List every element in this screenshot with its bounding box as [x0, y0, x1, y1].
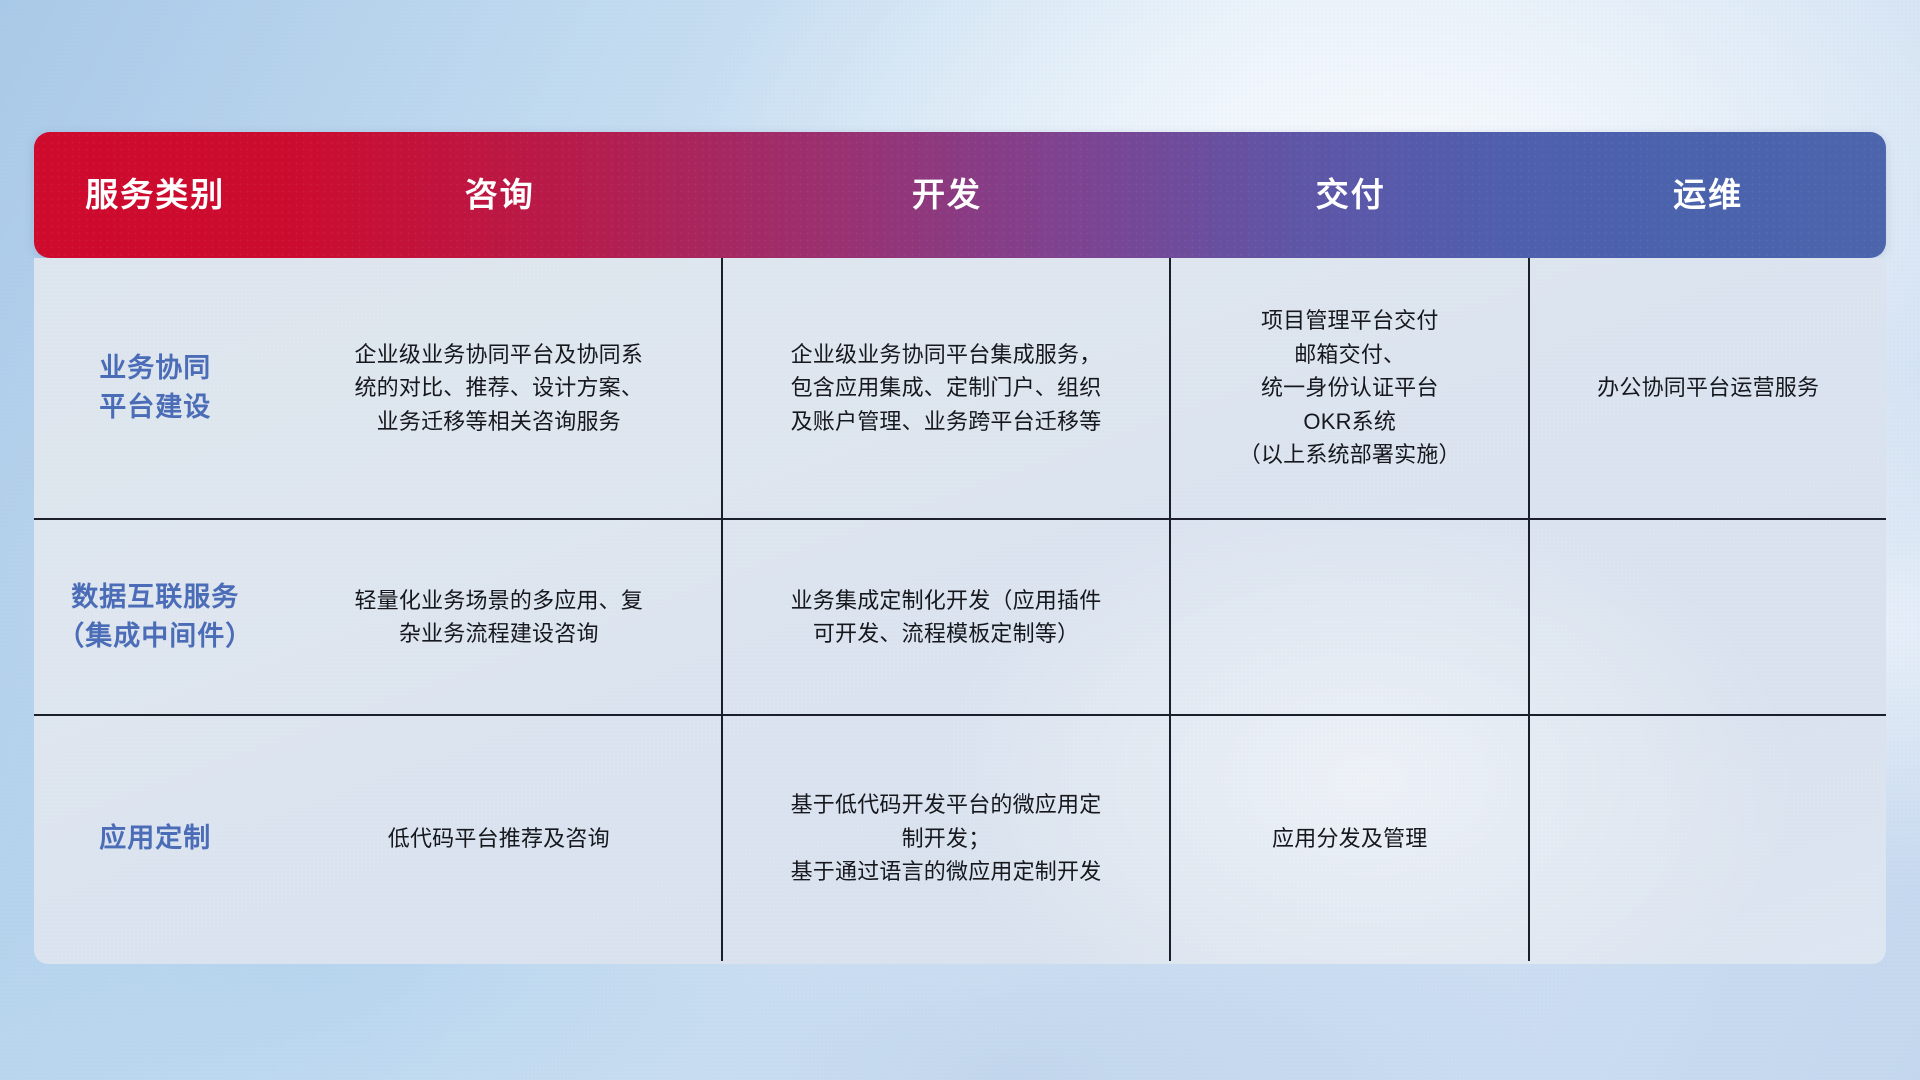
cell-text: 应用分发及管理: [1272, 822, 1427, 855]
category-label: 数据互联服务 （集成中间件）: [57, 578, 253, 656]
row-operations-cell: [1530, 520, 1886, 714]
row-consulting-cell: 企业级业务协同平台及协同系 统的对比、推荐、设计方案、 业务迁移等相关咨询服务: [277, 258, 723, 518]
table-row: 数据互联服务 （集成中间件） 轻量化业务场景的多应用、复 杂业务流程建设咨询 业…: [34, 520, 1886, 716]
row-delivery-cell: 应用分发及管理: [1171, 716, 1530, 961]
cell-text: 业务集成定制化开发（应用插件 可开发、流程模板定制等）: [791, 584, 1102, 651]
category-label: 业务协同 平台建设: [99, 349, 211, 427]
service-matrix-table: 服务类别 咨询 开发 交付 运维 业务协同 平台建设 企业级业务协同平台及协同系…: [34, 132, 1886, 964]
column-header-operations: 运维: [1530, 177, 1886, 213]
row-consulting-cell: 低代码平台推荐及咨询: [277, 716, 723, 961]
column-header-consulting: 咨询: [277, 177, 723, 213]
cell-text: 企业级业务协同平台集成服务， 包含应用集成、定制门户、组织 及账户管理、业务跨平…: [791, 338, 1102, 438]
column-header-category: 服务类别: [34, 177, 277, 213]
table-header-row: 服务类别 咨询 开发 交付 运维: [34, 132, 1886, 258]
cell-text: 基于低代码开发平台的微应用定 制开发； 基于通过语言的微应用定制开发: [791, 788, 1102, 888]
row-consulting-cell: 轻量化业务场景的多应用、复 杂业务流程建设咨询: [277, 520, 723, 714]
cell-text: 项目管理平台交付 邮箱交付、 统一身份认证平台 OKR系统 （以上系统部署实施）: [1239, 304, 1461, 471]
row-development-cell: 企业级业务协同平台集成服务， 包含应用集成、定制门户、组织 及账户管理、业务跨平…: [723, 258, 1171, 518]
row-category-cell: 应用定制: [34, 716, 277, 961]
column-header-delivery: 交付: [1171, 177, 1530, 213]
row-delivery-cell: [1171, 520, 1530, 714]
row-delivery-cell: 项目管理平台交付 邮箱交付、 统一身份认证平台 OKR系统 （以上系统部署实施）: [1171, 258, 1530, 518]
cell-text: 办公协同平台运营服务: [1597, 371, 1819, 404]
cell-text: 企业级业务协同平台及协同系 统的对比、推荐、设计方案、 业务迁移等相关咨询服务: [354, 338, 643, 438]
table-row: 业务协同 平台建设 企业级业务协同平台及协同系 统的对比、推荐、设计方案、 业务…: [34, 258, 1886, 520]
row-operations-cell: [1530, 716, 1886, 961]
table-row: 应用定制 低代码平台推荐及咨询 基于低代码开发平台的微应用定 制开发； 基于通过…: [34, 716, 1886, 961]
table-body: 业务协同 平台建设 企业级业务协同平台及协同系 统的对比、推荐、设计方案、 业务…: [34, 258, 1886, 964]
cell-text: 低代码平台推荐及咨询: [388, 822, 610, 855]
row-development-cell: 基于低代码开发平台的微应用定 制开发； 基于通过语言的微应用定制开发: [723, 716, 1171, 961]
category-label: 应用定制: [99, 819, 211, 858]
cell-text: 轻量化业务场景的多应用、复 杂业务流程建设咨询: [354, 584, 643, 651]
row-development-cell: 业务集成定制化开发（应用插件 可开发、流程模板定制等）: [723, 520, 1171, 714]
row-operations-cell: 办公协同平台运营服务: [1530, 258, 1886, 518]
column-header-development: 开发: [723, 177, 1171, 213]
row-category-cell: 业务协同 平台建设: [34, 258, 277, 518]
row-category-cell: 数据互联服务 （集成中间件）: [34, 520, 277, 714]
